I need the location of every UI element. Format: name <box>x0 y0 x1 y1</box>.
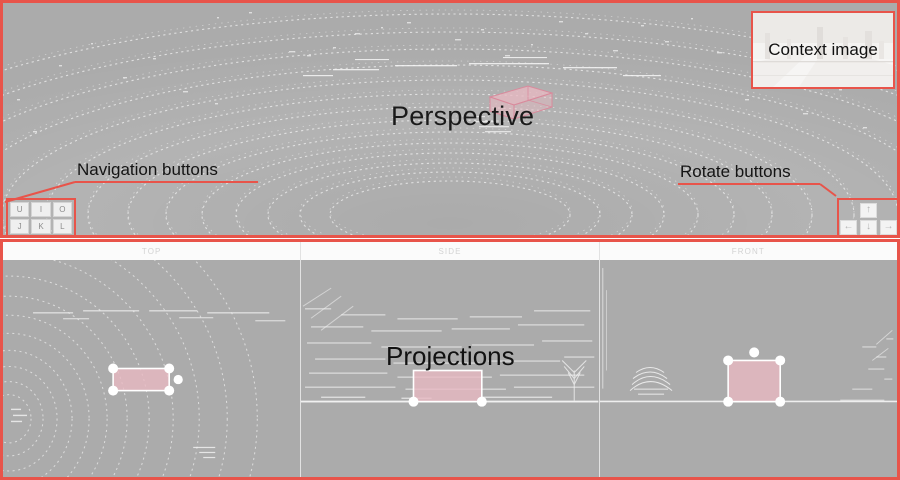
perspective-label: Perspective <box>391 101 534 132</box>
projection-cell-front: FRONT <box>599 242 897 477</box>
context-image-label: Context image <box>753 40 893 60</box>
projection-header-side: SIDE <box>301 242 598 260</box>
rotate-buttons-callout: Rotate buttons <box>680 162 791 182</box>
rotate-button-row-bottom: ← ↓ → <box>840 220 897 235</box>
rotate-down-icon[interactable]: ↓ <box>860 220 877 235</box>
nav-key-k[interactable]: K <box>31 219 50 234</box>
navigation-button-row-bottom: J K L <box>10 219 72 234</box>
projection-cell-top: TOP <box>3 242 300 477</box>
projection-view-top[interactable] <box>3 260 300 477</box>
projection-view-front[interactable] <box>600 260 897 477</box>
nav-key-l[interactable]: L <box>53 219 72 234</box>
rotate-left-icon[interactable]: ← <box>840 220 857 235</box>
projection-header-top: TOP <box>3 242 300 260</box>
annotation-tool-window: Perspective <box>0 0 900 480</box>
navigation-callout-leader-line <box>0 150 280 210</box>
rotate-right-icon[interactable]: → <box>880 220 897 235</box>
projections-label: Projections <box>386 341 515 372</box>
nav-key-j[interactable]: J <box>10 219 29 234</box>
navigation-buttons-callout: Navigation buttons <box>77 160 218 180</box>
projection-header-front: FRONT <box>600 242 897 260</box>
context-image-panel[interactable]: Context image <box>751 11 895 89</box>
